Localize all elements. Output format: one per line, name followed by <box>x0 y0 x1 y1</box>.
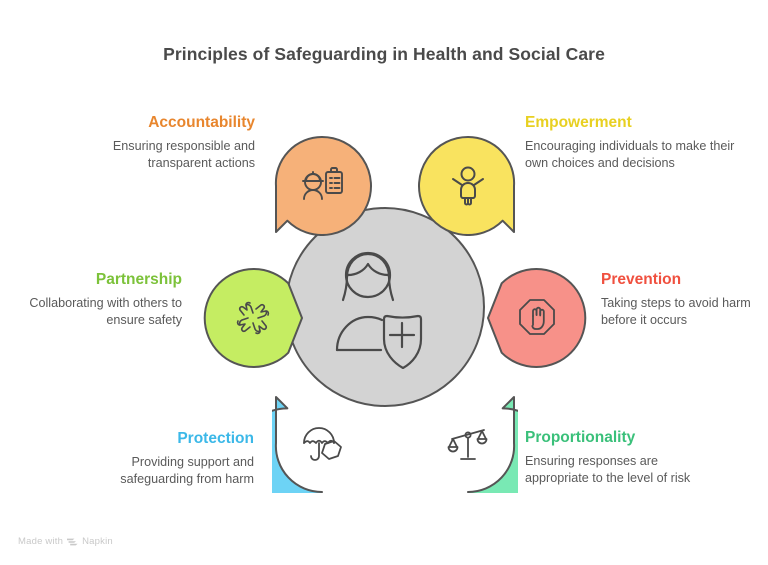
umbrella-shield-icon <box>298 419 346 467</box>
stop-hand-icon <box>513 294 561 342</box>
joined-hands-icon <box>229 294 277 342</box>
heading-protection: Protection <box>62 430 254 447</box>
heading-proportionality: Proportionality <box>525 429 725 446</box>
label-accountability: Accountability Ensuring responsible and … <box>55 114 255 172</box>
description-prevention: Taking steps to avoid harm before it occ… <box>601 295 768 329</box>
page-title: Principles of Safeguarding in Health and… <box>0 44 768 65</box>
petal-protection[interactable] <box>272 393 372 493</box>
description-empowerment: Encouraging individuals to make their ow… <box>525 138 735 172</box>
heading-empowerment: Empowerment <box>525 114 735 131</box>
napkin-logo-icon <box>67 537 78 546</box>
label-prevention: Prevention Taking steps to avoid harm be… <box>601 271 768 329</box>
petal-accountability[interactable] <box>272 136 372 236</box>
description-protection: Providing support and safeguarding from … <box>62 454 254 488</box>
person-with-shield-icon <box>321 245 449 369</box>
description-accountability: Ensuring responsible and transparent act… <box>55 138 255 172</box>
watermark-prefix: Made with <box>18 536 63 547</box>
heading-prevention: Prevention <box>601 271 768 288</box>
center-hub <box>285 207 485 407</box>
watermark-brand: Napkin <box>82 536 113 547</box>
heading-partnership: Partnership <box>22 271 182 288</box>
description-partnership: Collaborating with others to ensure safe… <box>22 295 182 329</box>
watermark: Made with Napkin <box>18 536 113 547</box>
petal-partnership[interactable] <box>203 268 303 368</box>
label-partnership: Partnership Collaborating with others to… <box>22 271 182 329</box>
petal-prevention[interactable] <box>487 268 587 368</box>
label-protection: Protection Providing support and safegua… <box>62 430 254 488</box>
petal-empowerment[interactable] <box>418 136 518 236</box>
label-empowerment: Empowerment Encouraging individuals to m… <box>525 114 735 172</box>
infographic-canvas: Principles of Safeguarding in Health and… <box>0 0 768 565</box>
person-arms-raised-icon <box>444 162 492 210</box>
worker-with-clipboard-icon <box>298 162 346 210</box>
label-proportionality: Proportionality Ensuring responses are a… <box>525 429 725 487</box>
heading-accountability: Accountability <box>55 114 255 131</box>
petal-proportionality[interactable] <box>418 393 518 493</box>
scales-balance-icon <box>444 419 492 467</box>
description-proportionality: Ensuring responses are appropriate to th… <box>525 453 725 487</box>
